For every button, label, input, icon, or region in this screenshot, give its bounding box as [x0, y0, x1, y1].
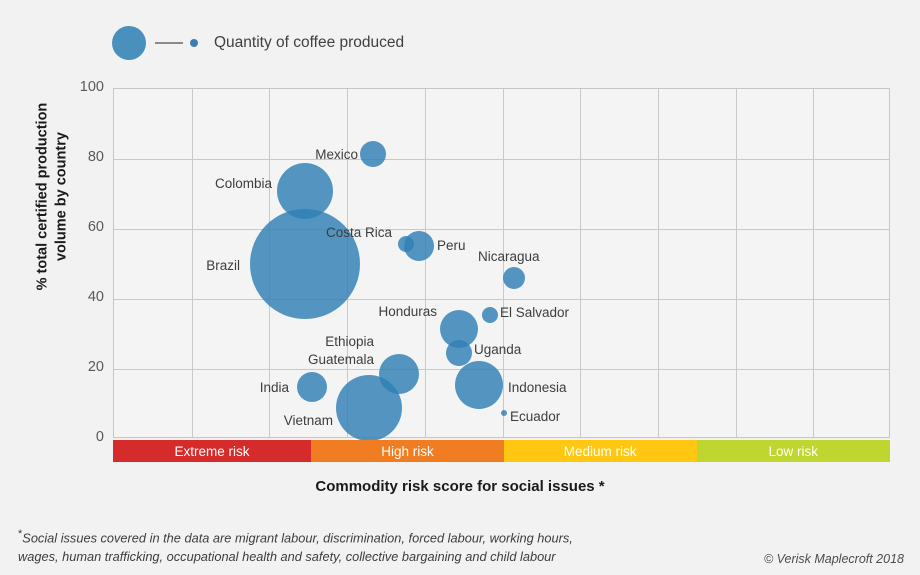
point-label-vietnam: Vietnam: [0, 413, 333, 428]
x-axis-title: Commodity risk score for social issues *: [0, 478, 920, 495]
y-axis-tick-0: 0: [58, 429, 104, 445]
risk-band-label: Extreme risk: [175, 444, 250, 459]
point-label-brazil: Brazil: [0, 258, 240, 273]
gridline-vertical: [425, 89, 426, 437]
gridline-horizontal: [114, 369, 889, 370]
gridline-vertical: [813, 89, 814, 437]
point-label-uganda: Uganda: [474, 342, 521, 357]
chart-canvas: Quantity of coffee produced % total cert…: [0, 0, 920, 575]
point-label-ecuador: Ecuador: [510, 409, 560, 424]
risk-band-label: Low risk: [768, 444, 818, 459]
risk-band-label: High risk: [381, 444, 434, 459]
bubble-ecuador[interactable]: [501, 410, 507, 416]
y-axis-tick-100: 100: [58, 79, 104, 95]
gridline-vertical: [736, 89, 737, 437]
bubble-mexico[interactable]: [360, 141, 386, 167]
copyright-notice: © Verisk Maplecroft 2018: [764, 552, 904, 566]
point-label-honduras: Honduras: [0, 304, 437, 319]
line-marker-icon: [155, 42, 183, 44]
point-label-peru: Peru: [437, 238, 466, 253]
bubble-ethiopia[interactable]: [379, 354, 419, 394]
risk-band-medium-risk: Medium risk: [504, 440, 697, 462]
point-label-ethiopia: Ethiopia: [0, 334, 374, 349]
large-bubble-marker-icon: [112, 26, 146, 60]
legend-label: Quantity of coffee produced: [214, 34, 404, 52]
bubble-indonesia[interactable]: [455, 361, 503, 409]
small-dot-marker-icon: [190, 39, 198, 47]
bubble-el-salvador[interactable]: [482, 307, 498, 323]
bubble-nicaragua[interactable]: [503, 267, 525, 289]
point-label-el-salvador: El Salvador: [500, 305, 569, 320]
risk-band-scale: Extreme riskHigh riskMedium riskLow risk: [113, 440, 890, 462]
footnote-line-2: wages, human trafficking, occupational h…: [18, 549, 556, 564]
risk-band-high-risk: High risk: [311, 440, 504, 462]
point-label-indonesia: Indonesia: [508, 380, 567, 395]
y-axis-tick-40: 40: [58, 289, 104, 305]
point-label-costa-rica: Costa Rica: [0, 225, 392, 240]
footnote-line-1: Social issues covered in the data are mi…: [22, 530, 573, 545]
risk-band-extreme-risk: Extreme risk: [113, 440, 311, 462]
y-axis-title: % total certified production volume by c…: [33, 77, 70, 317]
point-label-colombia: Colombia: [0, 176, 272, 191]
point-label-mexico: Mexico: [0, 147, 358, 162]
bubble-costa-rica[interactable]: [398, 236, 414, 252]
risk-band-label: Medium risk: [564, 444, 637, 459]
bubble-colombia[interactable]: [277, 163, 333, 219]
gridline-horizontal: [114, 299, 889, 300]
gridline-vertical: [580, 89, 581, 437]
chart-legend: Quantity of coffee produced: [112, 22, 404, 64]
point-label-nicaragua: Nicaragua: [478, 249, 540, 264]
point-label-guatemala: Guatemala: [0, 352, 374, 367]
bubble-india[interactable]: [297, 372, 327, 402]
gridline-vertical: [658, 89, 659, 437]
point-label-india: India: [0, 380, 289, 395]
footnote: *Social issues covered in the data are m…: [18, 527, 658, 566]
risk-band-low-risk: Low risk: [697, 440, 890, 462]
